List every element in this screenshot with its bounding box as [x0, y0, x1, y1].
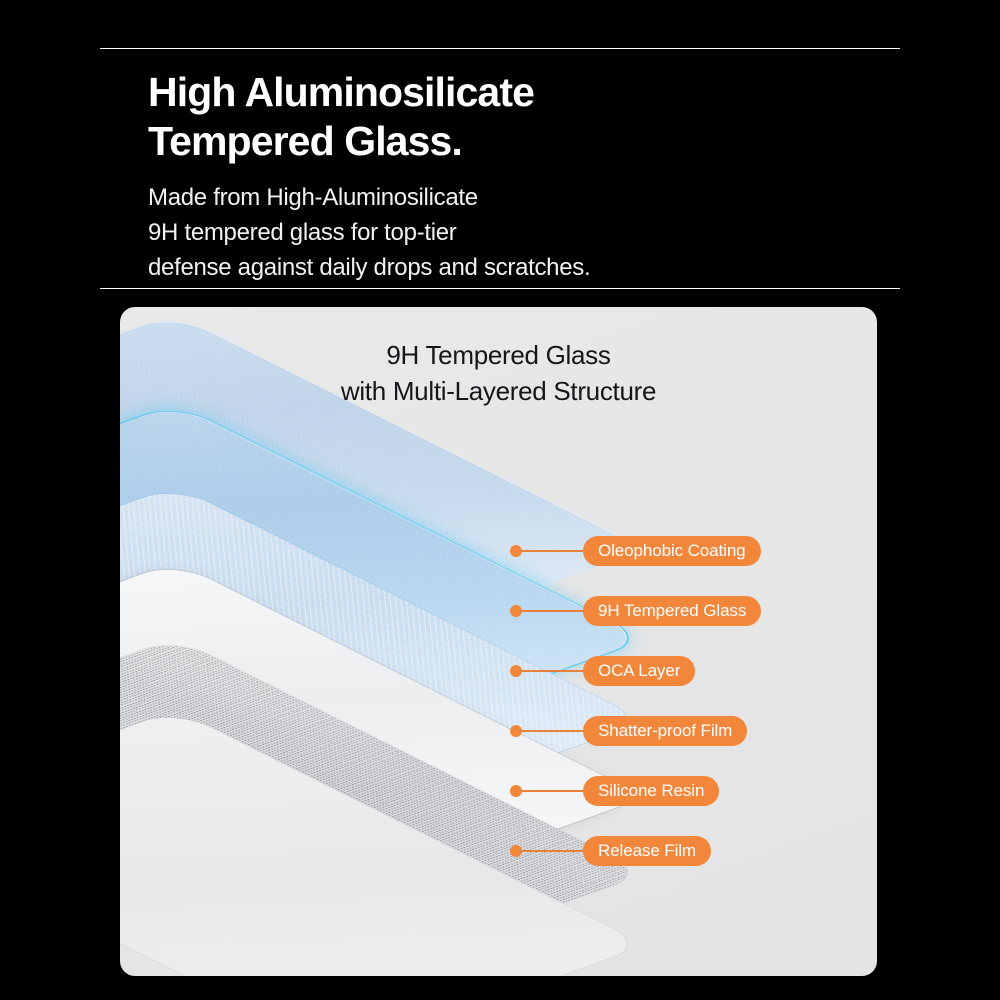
callout-label-silicone-resin: Silicone Resin — [583, 776, 719, 806]
callout-label-9h-tempered-glass: 9H Tempered Glass — [583, 596, 761, 626]
callout-labels: Oleophobic Coating 9H Tempered Glass OCA… — [0, 0, 1000, 1000]
callout-leader-line — [519, 550, 585, 552]
callout-label-oleophobic-coating: Oleophobic Coating — [583, 536, 761, 566]
callout-label-oca-layer: OCA Layer — [583, 656, 695, 686]
callout-leader-line — [519, 610, 585, 612]
callout-leader-line — [519, 730, 585, 732]
callout-label-release-film: Release Film — [583, 836, 711, 866]
callout-leader-line — [519, 670, 585, 672]
callout-leader-line — [519, 850, 585, 852]
callout-label-shatter-proof-film: Shatter-proof Film — [583, 716, 747, 746]
callout-leader-line — [519, 790, 585, 792]
